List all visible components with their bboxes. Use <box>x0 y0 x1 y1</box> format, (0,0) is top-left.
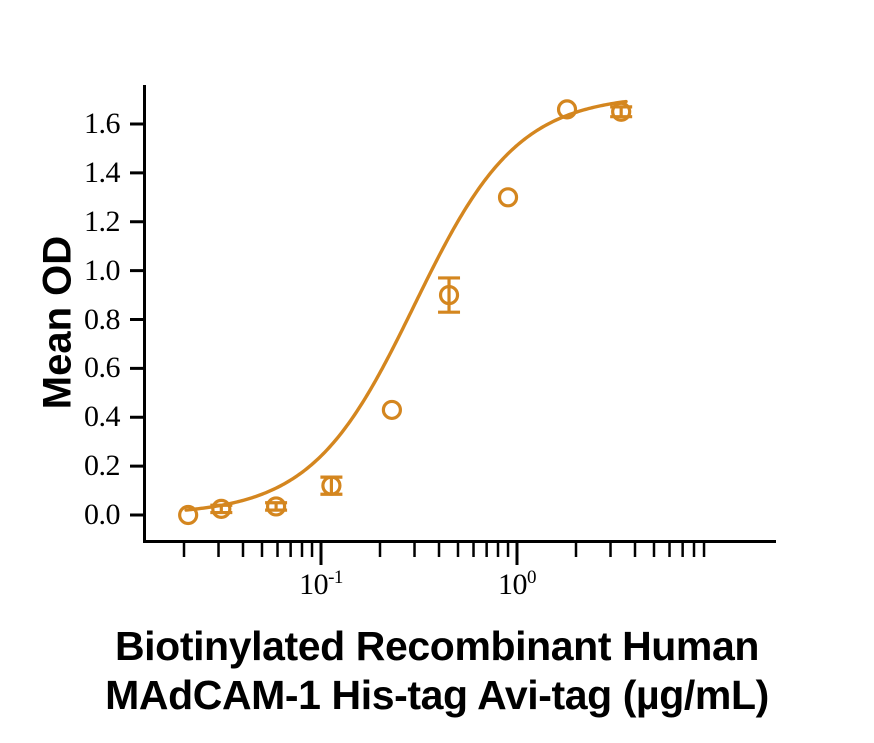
y-tick-label: 1.6 <box>30 107 120 141</box>
fit-curve <box>186 102 626 511</box>
y-tick-label: 1.4 <box>30 156 120 190</box>
data-point-marker <box>383 401 400 418</box>
x-axis-title: Biotinylated Recombinant Human MAdCAM-1 … <box>0 622 874 720</box>
error-bars <box>210 107 632 513</box>
y-tick-label: 0.4 <box>30 400 120 434</box>
data-markers <box>180 101 630 524</box>
y-tick-label: 0.6 <box>30 351 120 385</box>
y-tick-label: 1.0 <box>30 254 120 288</box>
y-tick-marks <box>130 124 144 515</box>
data-point-marker <box>500 189 517 206</box>
chart-figure: Mean OD Biotinylated Recombinant Human M… <box>0 0 874 743</box>
y-tick-label: 1.2 <box>30 205 120 239</box>
x-axis-title-line-1: Biotinylated Recombinant Human <box>0 622 874 671</box>
x-axis-title-line-2: MAdCAM-1 His-tag Avi-tag (µg/mL) <box>0 671 874 720</box>
x-tick-label: 100 <box>498 568 536 602</box>
x-tick-label: 10-1 <box>299 568 343 602</box>
axes-lines <box>144 85 776 543</box>
y-tick-label: 0.8 <box>30 303 120 337</box>
y-tick-label: 0.2 <box>30 449 120 483</box>
y-tick-label: 0.0 <box>30 498 120 532</box>
x-minor-tick-marks <box>184 542 704 557</box>
